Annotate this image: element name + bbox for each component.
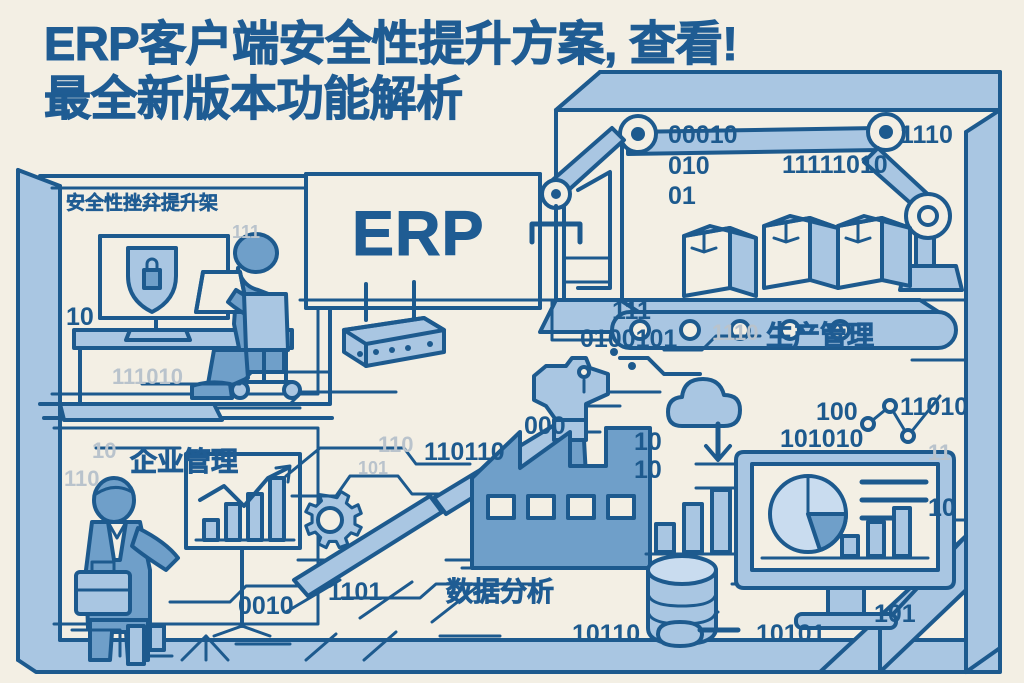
page-title: ERP客户端安全性提升方案, 查看! 最全新版本功能解析 [44, 16, 737, 126]
binary-label-dash-100: 100 [816, 398, 858, 427]
binary-label-ana-10110: 10110 [572, 620, 640, 649]
binary-label-prod-11111010: 11111010 [782, 151, 888, 180]
box-2 [764, 216, 838, 288]
binary-label-sec-10: 10 [66, 303, 94, 332]
binary-label-dash-11: 11 [928, 440, 951, 466]
binary-label-ctr-000: 000 [524, 412, 566, 441]
binary-label-prod-00010: 00010 [668, 121, 738, 150]
binary-label-prod-010: 010 [668, 152, 710, 181]
erp-board-label: ERP [352, 198, 485, 270]
binary-label-mid-0100101: 0100101 [580, 325, 677, 354]
binary-label-sec-111: 111 [232, 222, 260, 243]
binary-label-ctr-10a: 10 [634, 428, 662, 457]
binary-label-dash-11010: 11010 [900, 393, 968, 422]
binary-label-sec-111010: 111010 [112, 364, 183, 390]
binary-label-mid-111: 111 [612, 297, 651, 326]
title-line-1: ERP客户端安全性提升方案, 查看! [44, 16, 737, 71]
infographic-canvas: .ln{fill:none;stroke:#1d5a8e;stroke-widt… [0, 0, 1024, 683]
binary-label-dash-101: 101 [874, 600, 916, 629]
binary-label-ent-110: 110 [64, 466, 100, 492]
binary-label-ctr-10b: 10 [634, 456, 662, 485]
binary-label-ent-0010: 0010 [238, 592, 294, 621]
binary-label-prod-01: 01 [668, 182, 696, 211]
production-panel-label: 生产管理 [766, 314, 874, 353]
security-panel-label: 安全性挫弅提升架 [66, 188, 218, 215]
binary-label-ctr-110: 110 [378, 432, 414, 458]
binary-label-ctr-110110: 110110 [424, 438, 505, 467]
binary-label-ctr-101: 101 [358, 458, 388, 479]
binary-label-dash-10: 10 [928, 494, 956, 523]
box-1 [684, 226, 756, 296]
binary-label-mid-1110: 1110 [712, 320, 759, 346]
analytics-panel-label: 数据分析 [446, 570, 554, 609]
title-line-2: 最全新版本功能解析 [44, 71, 737, 126]
binary-label-ent-10: 10 [92, 438, 116, 464]
binary-label-ent-1101: 1101 [328, 578, 382, 607]
box-3 [838, 216, 910, 288]
enterprise-panel-label: 企业管理 [130, 440, 238, 479]
binary-label-prod-1110: 1110 [900, 121, 953, 150]
binary-label-dash-10101: 10101 [756, 620, 826, 649]
binary-label-dash-101010: 101010 [780, 425, 863, 454]
